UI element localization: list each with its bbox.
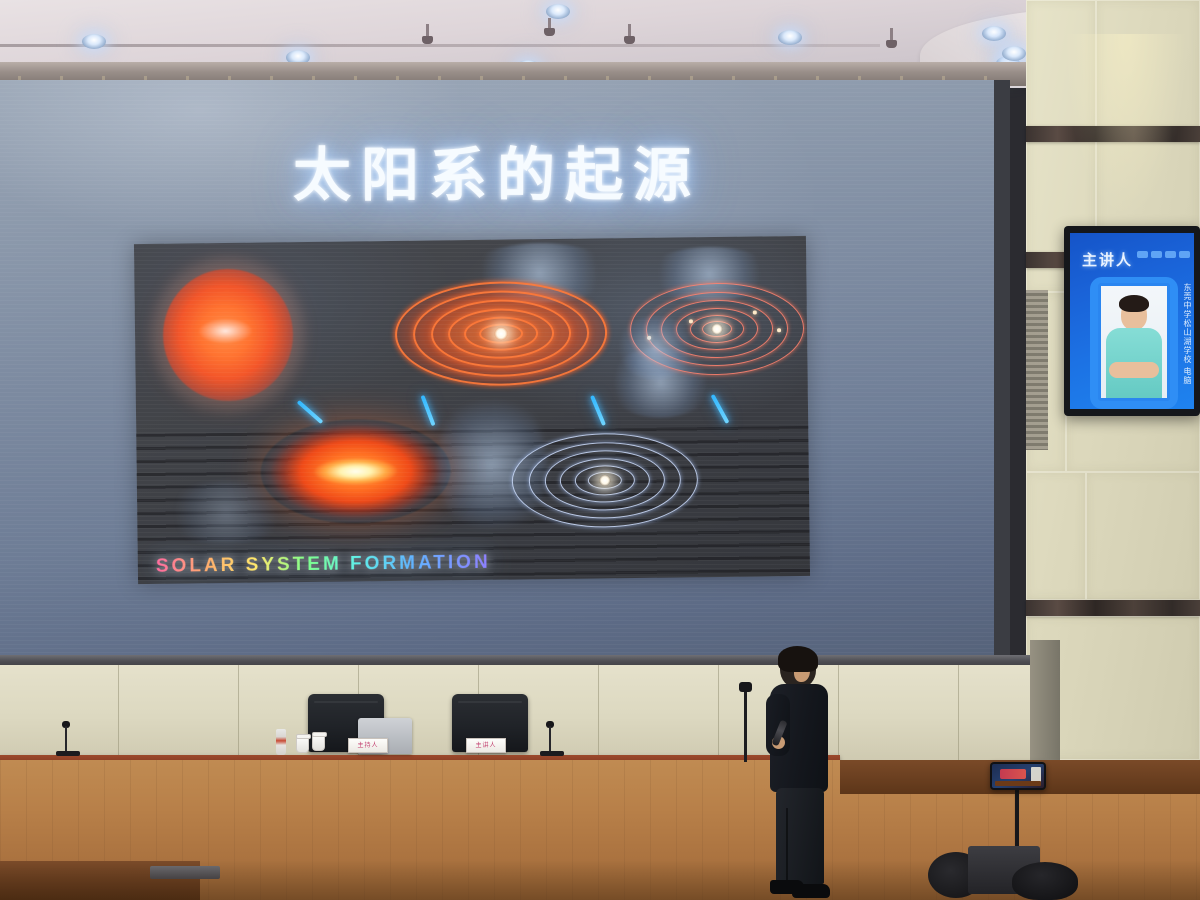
tv-decor-dots (1137, 251, 1190, 258)
ceiling-downlight (778, 30, 802, 45)
marble-accent-band (1026, 600, 1200, 616)
decor-dot (1151, 251, 1162, 258)
stage-nebula-cloud (162, 268, 294, 402)
paper-cup[interactable] (312, 735, 325, 751)
central-star (599, 475, 610, 486)
panel-seam (598, 665, 599, 760)
panel-seam (958, 665, 959, 760)
recording-smartphone[interactable] (990, 762, 1046, 790)
ceiling-sprinkler (628, 24, 631, 38)
panel-seam (238, 665, 239, 760)
mic-base (540, 751, 564, 756)
side-vent-box (1030, 640, 1060, 760)
projection-screen: 太阳系的起源 (0, 80, 994, 665)
slide-caption: SOLAR SYSTEM FORMATION (156, 552, 491, 578)
transition-arrow (420, 395, 435, 426)
cup-lid (312, 732, 327, 737)
wall-panel (1026, 472, 1086, 600)
mic-base (56, 751, 80, 756)
presenter-hair (778, 646, 818, 672)
central-star (494, 327, 507, 340)
ceiling-sprinkler (890, 28, 893, 42)
stage-planetesimal-orbits (628, 280, 805, 378)
presenter-arm (766, 694, 790, 756)
portrait-hair (1119, 295, 1149, 312)
slide-diagram: SOLAR SYSTEM FORMATION (134, 236, 810, 584)
mic-neck (65, 726, 67, 752)
ceiling-downlight (1002, 46, 1026, 61)
stage-protoplanetary-disk (392, 276, 609, 391)
wall-panel (1086, 472, 1200, 600)
wall-mounted-tv[interactable]: 主讲人 东莞中学松山湖学校 电脑 (1064, 226, 1200, 416)
decor-dot (1165, 251, 1176, 258)
planet-dot (777, 328, 781, 332)
ceiling-downlight (982, 26, 1006, 41)
stage-mature-system (510, 429, 699, 531)
phone-screen-footer (995, 781, 1041, 786)
phone-screen (992, 764, 1044, 788)
wall-panel (1096, 0, 1200, 132)
planet-dot (689, 319, 693, 323)
marble-accent-band (1026, 126, 1200, 142)
slide-title: 太阳系的起源 (0, 128, 994, 212)
ceiling-downlight (546, 4, 570, 19)
table-nameplate: 主讲人 (466, 738, 506, 753)
ceiling-downlight (82, 34, 106, 49)
panel-seam (838, 665, 839, 760)
floor-monitor-cone (1012, 862, 1078, 900)
panel-seam (718, 665, 719, 760)
portrait-arms (1109, 362, 1159, 378)
lecture-hall-scene: 太阳系的起源 (0, 0, 1200, 900)
presenter-shoe (792, 884, 830, 898)
tv-side-caption: 东莞中学松山湖学校 电脑 (1176, 283, 1192, 403)
table-nameplate: 主持人 (348, 738, 388, 753)
gooseneck-microphone[interactable] (56, 740, 80, 756)
transition-arrow (297, 400, 324, 424)
wall-vent-grille (1026, 290, 1048, 450)
transition-arrow (590, 395, 606, 426)
speaker-photo-card (1090, 277, 1178, 409)
paper-cup[interactable] (296, 737, 309, 753)
cup-lid (296, 734, 311, 739)
tv-screen: 主讲人 东莞中学松山湖学校 电脑 (1070, 233, 1194, 409)
mic-neck (549, 726, 551, 752)
transition-arrow (711, 394, 730, 424)
floor-mic-stand[interactable] (744, 690, 747, 762)
ceiling-edge-line (0, 44, 880, 47)
decor-dot (1179, 251, 1190, 258)
presenter-person (762, 648, 834, 896)
speaker-portrait (1098, 283, 1170, 401)
ceiling-sprinkler (426, 24, 429, 38)
water-bottle[interactable] (277, 729, 286, 755)
tv-slide-title: 主讲人 (1082, 249, 1133, 270)
panel-seam (118, 665, 119, 760)
phone-screen-highlight (1000, 769, 1026, 779)
planet-dot (753, 311, 757, 315)
presenter-leg-seam (786, 808, 788, 882)
projection-screen-frame: 太阳系的起源 (0, 80, 1010, 665)
ceiling-sprinkler (548, 18, 551, 30)
central-star (711, 323, 722, 334)
gooseneck-microphone[interactable] (540, 740, 564, 756)
wall-panel (1026, 0, 1096, 132)
presenter-legs (776, 788, 824, 884)
decor-dot (1137, 251, 1148, 258)
